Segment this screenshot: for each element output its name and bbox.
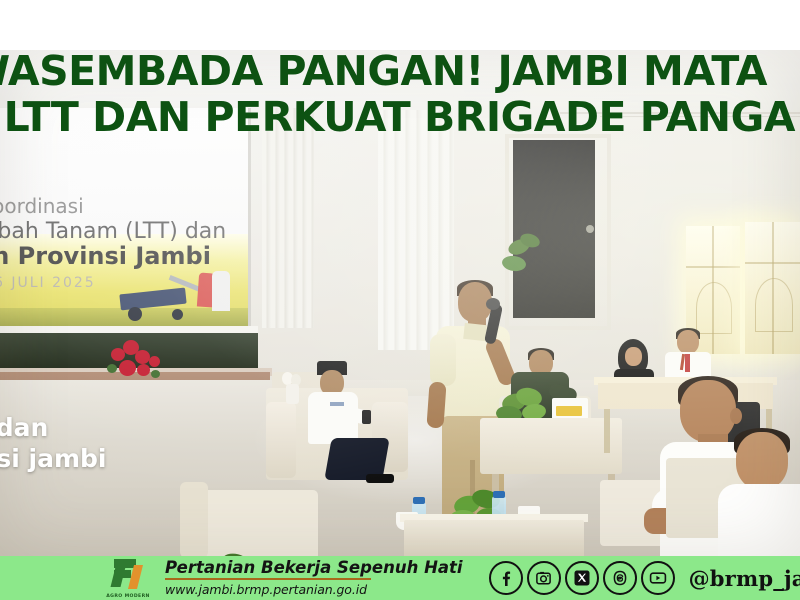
agro-modern-logo: AGRO MODERN — [105, 558, 151, 598]
youtube-icon[interactable] — [641, 561, 675, 595]
threads-icon[interactable] — [603, 561, 637, 595]
foreground-table — [404, 520, 584, 556]
armchair-left-armrest — [266, 402, 296, 478]
slide-line-2: mbah Tanam (LTT) dan — [0, 220, 248, 244]
social-icons-group — [489, 561, 675, 595]
overlay-caption-left: T dan insi jambi — [0, 412, 106, 475]
poster-canvas: Koordinasi mbah Tanam (LTT) dan an Provi… — [0, 0, 800, 600]
tissue-box-label — [556, 406, 582, 416]
banner-website-url: www.jambi.brmp.pertanian.go.id — [165, 582, 463, 597]
x-twitter-icon[interactable] — [565, 561, 599, 595]
door-knob — [586, 225, 594, 233]
overlay-caption-line-1: T dan — [0, 412, 106, 443]
overlay-caption-line-2: insi jambi — [0, 443, 106, 474]
curtain-left — [262, 108, 314, 328]
banner-text-block: Pertanian Bekerja Sepenuh Hati www.jambi… — [165, 560, 463, 597]
projector-screen: Koordinasi mbah Tanam (LTT) dan an Provi… — [0, 108, 251, 330]
bottle-cap — [413, 497, 425, 504]
headline-block: SWASEMBADA PANGAN! JAMBI MATA GI LTT DAN… — [0, 50, 800, 138]
seated-attendee-with-peci — [300, 350, 396, 490]
back-table-leg — [604, 409, 610, 453]
foreground-attendee-secondary — [724, 432, 800, 556]
bottom-banner: AGRO MODERN Pertanian Bekerja Sepenuh Ha… — [0, 556, 800, 600]
red-flower-arrangement — [105, 326, 175, 384]
mobile-phone — [362, 410, 371, 424]
headline-line-2: GI LTT DAN PERKUAT BRIGADE PANGA — [0, 96, 800, 138]
instagram-icon[interactable] — [527, 561, 561, 595]
window-right — [745, 222, 800, 354]
logo-wordmark: AGRO MODERN — [105, 594, 151, 599]
slide-line-1: Koordinasi — [0, 196, 248, 218]
social-handle: @brmp_jambi — [689, 566, 800, 591]
headline-line-1: SWASEMBADA PANGAN! JAMBI MATA — [0, 50, 800, 92]
facebook-icon[interactable] — [489, 561, 523, 595]
banner-tagline: Pertanian Bekerja Sepenuh Hati — [165, 560, 463, 577]
slide-line-4: -16 JULI 2025 — [0, 276, 248, 291]
slide-line-3: an Provinsi Jambi — [0, 244, 248, 270]
slide-text: Koordinasi mbah Tanam (LTT) dan an Provi… — [0, 196, 248, 291]
coffee-table-center — [480, 418, 622, 474]
logo-mark-icon — [110, 559, 144, 589]
banner-divider — [165, 578, 371, 580]
bottle-cap — [493, 491, 505, 498]
sofa-bottom-left-arm — [180, 482, 208, 556]
